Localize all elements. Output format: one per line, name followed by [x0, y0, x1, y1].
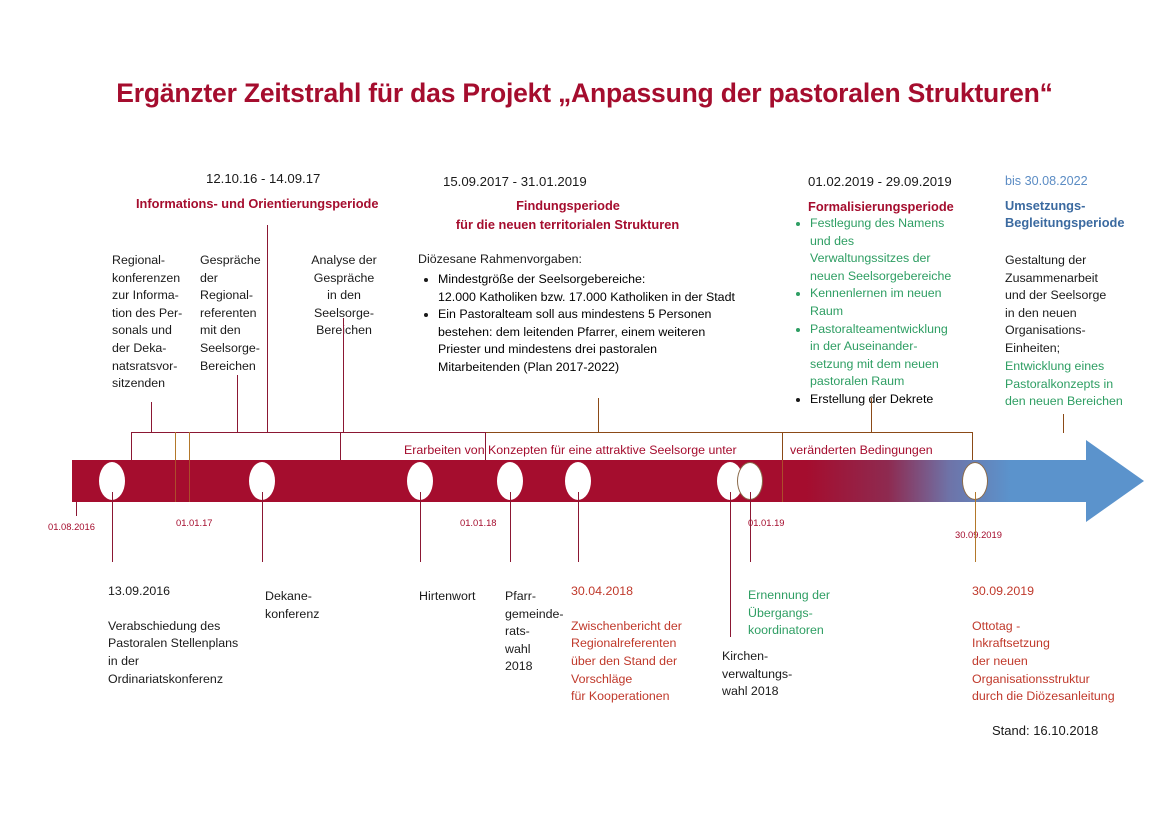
banner-text-left: Erarbeiten von Konzepten für eine attrak… [404, 443, 737, 457]
axis-date-2016: 01.08.2016 [48, 521, 95, 532]
phase-title-findungsperiode-line1: Findungsperiode [443, 197, 693, 214]
formalisierung-bullets: Festlegung des Namens und des Verwaltung… [790, 215, 985, 409]
banner-text-right: veränderten Bedingungen [790, 443, 933, 457]
bracket-phase1-top [131, 432, 485, 433]
axis-tick [975, 492, 976, 562]
axis-tick [750, 492, 751, 562]
bar-separator-1 [175, 460, 176, 502]
bracket-leg-7 [972, 432, 973, 462]
axis-tick [76, 502, 77, 516]
axis-tick [420, 492, 421, 562]
event-text-dekanekonferenz: Dekane- konferenz [265, 588, 345, 623]
bracket-leg-3 [189, 432, 190, 462]
riser-umsetzung [1063, 414, 1064, 433]
axis-tick [578, 492, 579, 562]
phase-title-findungsperiode-line2: für die neuen territorialen Strukturen [420, 216, 715, 233]
bracket-leg-2 [175, 432, 176, 462]
column-analyse-der-gespraeche: Analyse der Gespräche in den Seelsorge- … [298, 252, 390, 340]
list-item: Pastoralteamentwicklung in der Auseinand… [790, 321, 985, 391]
bar-separator-3 [782, 460, 783, 502]
bracket-leg-1 [131, 432, 132, 462]
phase-title-formalisierung: Formalisierungsperiode [808, 198, 954, 215]
list-item: Ein Pastoralteam soll aus mindestens 5 P… [418, 306, 798, 376]
event-text-ottotag: Ottotag - Inkraftsetzung der neuen Organ… [972, 618, 1152, 706]
event-text-zwischenbericht: Zwischenbericht der Regionalreferenten ü… [571, 618, 711, 706]
phase-range-findungsperiode: 15.09.2017 - 31.01.2019 [443, 174, 587, 189]
axis-tick [730, 492, 731, 637]
axis-tick [262, 492, 263, 562]
bracket-phase3-top [782, 432, 972, 433]
list-item: Festlegung des Namens und des Verwaltung… [790, 215, 985, 285]
axis-tick [510, 492, 511, 562]
bar-separator-2 [189, 460, 190, 502]
list-item: Erstellung der Dekrete [790, 391, 985, 409]
bracket-leg-6 [782, 432, 783, 462]
column-regionalkonferenzen: Regional- konferenzen zur Informa- tion … [112, 252, 200, 393]
phase-range-formalisierung: 01.02.2019 - 29.09.2019 [808, 174, 952, 189]
axis-tick [112, 492, 113, 562]
bracket-leg-4 [340, 432, 341, 462]
column-gespraeche-regionalreferenten: Gespräche der Regional- referenten mit d… [200, 252, 270, 375]
phase-range-informations: 12.10.16 - 14.09.17 [206, 171, 320, 186]
event-date-zwischenbericht: 30.04.2018 [571, 583, 711, 601]
axis-date-2019: 01.01.19 [748, 517, 785, 528]
findungsperiode-intro: Diözesane Rahmenvorgaben: [418, 251, 582, 269]
phase-title-umsetzung: Umsetzungs- Begleitungsperiode [1005, 197, 1155, 231]
bracket-phase2-top [485, 432, 782, 433]
list-item: Kennenlernen im neuen Raum [790, 285, 985, 320]
riser-gespraeche [237, 375, 238, 433]
riser-divider-phase1 [267, 225, 268, 433]
event-text-ernennung: Ernennung der Übergangs- koordinatoren [748, 587, 868, 640]
umsetzung-body-green: Entwicklung eines Pastoralkonzepts in de… [1005, 358, 1157, 411]
riser-regionalkonferenzen [151, 402, 152, 433]
page-title: Ergänzter Zeitstrahl für das Projekt „An… [0, 78, 1169, 109]
stand-label: Stand: 16.10.2018 [992, 723, 1098, 738]
list-item: Mindestgröße der Seelsorgebereiche: 12.0… [418, 271, 798, 306]
event-text-pfarrgemeinderatswahl: Pfarr- gemeinde- rats- wahl 2018 [505, 588, 563, 676]
findungsperiode-bullets: Mindestgröße der Seelsorgebereiche: 12.0… [418, 271, 798, 377]
riser-analyse [343, 318, 344, 433]
event-text-hirtenwort: Hirtenwort [419, 588, 499, 606]
umsetzung-body-black: Gestaltung der Zusammenarbeit und der Se… [1005, 252, 1157, 358]
event-date-ottotag: 30.09.2019 [972, 583, 1152, 601]
riser-findungsperiode [598, 398, 599, 433]
event-text-kirchenverwaltungswahl: Kirchen- verwaltungs- wahl 2018 [722, 648, 832, 701]
axis-date-2018: 01.01.18 [460, 517, 497, 528]
event-text-verabschiedung: Verabschiedung des Pastoralen Stellenpla… [108, 618, 258, 688]
phase-range-umsetzung: bis 30.08.2022 [1005, 174, 1088, 188]
phase-title-informations: Informations- und Orientierungsperiode [136, 195, 378, 212]
timeline-arrowhead-icon [1086, 440, 1144, 522]
axis-date-2017: 01.01.17 [176, 517, 213, 528]
axis-date-end: 30.09.2019 [955, 529, 1002, 540]
event-date-verabschiedung: 13.09.2016 [108, 583, 258, 601]
riser-formalisierung [871, 398, 872, 433]
